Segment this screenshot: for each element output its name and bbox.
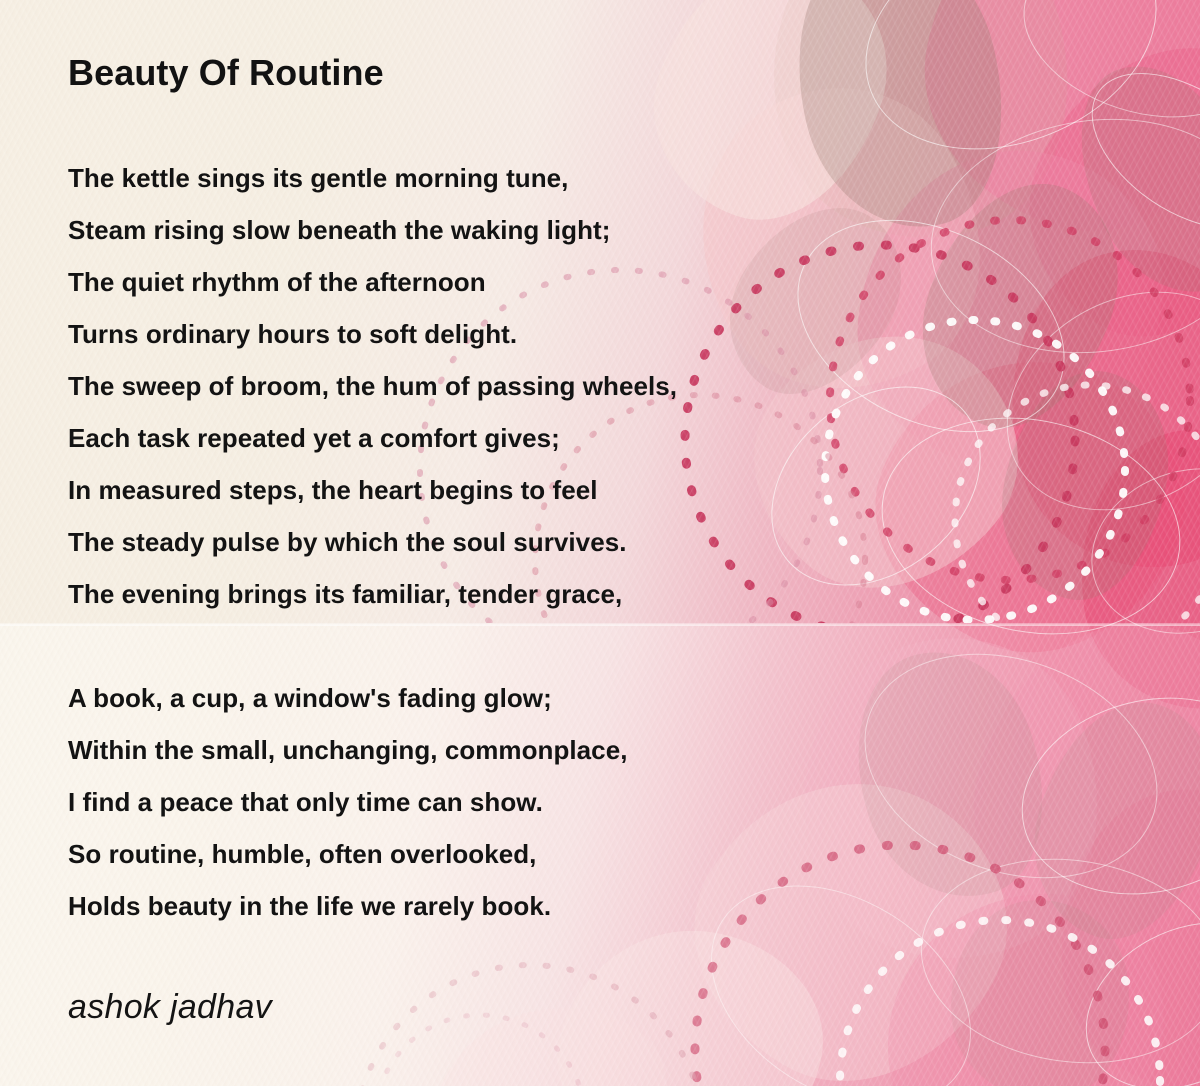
poem-line: Within the small, unchanging, commonplac… bbox=[68, 724, 1068, 776]
poem-content: Beauty Of Routine The kettle sings its g… bbox=[0, 0, 1200, 1086]
page-title: Beauty Of Routine bbox=[68, 52, 384, 94]
poem-line: Holds beauty in the life we rarely book. bbox=[68, 880, 1068, 932]
poem-line: The sweep of broom, the hum of passing w… bbox=[68, 360, 1068, 412]
poem-line: So routine, humble, often overlooked, bbox=[68, 828, 1068, 880]
poem-text: The kettle sings its gentle morning tune… bbox=[68, 152, 1068, 932]
poem-line: A book, a cup, a window's fading glow; bbox=[68, 672, 1068, 724]
poem-line: Each task repeated yet a comfort gives; bbox=[68, 412, 1068, 464]
poem-line: Steam rising slow beneath the waking lig… bbox=[68, 204, 1068, 256]
poem-author: ashok jadhav bbox=[68, 988, 272, 1027]
poem-line: The evening brings its familiar, tender … bbox=[68, 568, 1068, 620]
poem-line: I find a peace that only time can show. bbox=[68, 776, 1068, 828]
poem-line: The kettle sings its gentle morning tune… bbox=[68, 152, 1068, 204]
poem-line: The steady pulse by which the soul survi… bbox=[68, 516, 1068, 568]
stanza-break bbox=[68, 620, 1068, 672]
poem-line: Turns ordinary hours to soft delight. bbox=[68, 308, 1068, 360]
poem-line: In measured steps, the heart begins to f… bbox=[68, 464, 1068, 516]
poem-line: The quiet rhythm of the afternoon bbox=[68, 256, 1068, 308]
poem-page: Beauty Of Routine The kettle sings its g… bbox=[0, 0, 1200, 1086]
